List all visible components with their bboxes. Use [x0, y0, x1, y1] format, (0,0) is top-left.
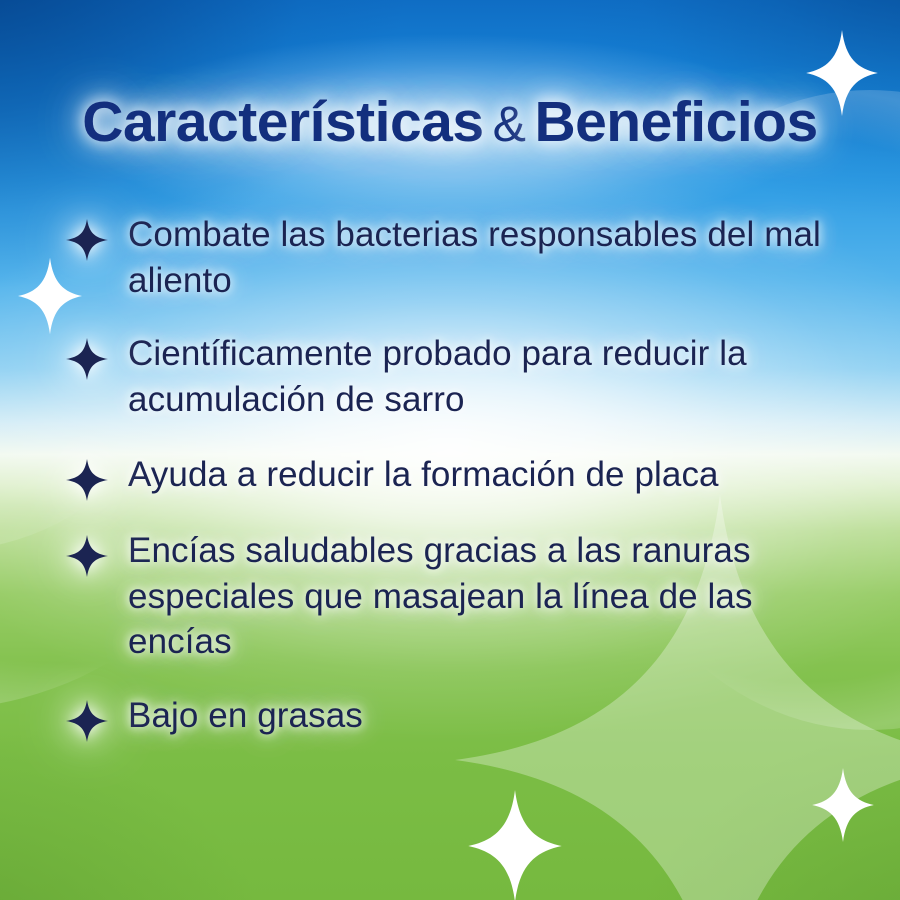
benefit-item: Ayuda a reducir la formación de placa — [66, 452, 866, 502]
benefit-text: Científicamente probado para reducir la … — [128, 331, 866, 422]
benefit-text: Combate las bacterias responsables del m… — [128, 212, 866, 303]
headline-word-beneficios: Beneficios — [534, 90, 817, 154]
benefit-item: Combate las bacterias responsables del m… — [66, 212, 866, 303]
sparkle-star-icon — [66, 699, 108, 743]
benefits-list: Combate las bacterias responsables del m… — [66, 212, 866, 743]
benefit-text: Bajo en grasas — [128, 693, 866, 739]
headline-ampersand: & — [484, 96, 535, 152]
headline-word-caracteristicas: Características — [82, 90, 483, 154]
promo-canvas: Características&Beneficios Combate las b… — [0, 0, 900, 900]
page-title: Características&Beneficios — [0, 94, 900, 151]
sparkle-bottom-middle-icon — [468, 790, 562, 900]
benefit-text: Ayuda a reducir la formación de placa — [128, 452, 866, 498]
benefit-item: Científicamente probado para reducir la … — [66, 331, 866, 422]
sparkle-star-icon — [66, 534, 108, 578]
sparkle-star-icon — [66, 458, 108, 502]
benefit-text: Encías saludables gracias a las ranuras … — [128, 528, 866, 665]
benefit-item: Bajo en grasas — [66, 693, 866, 743]
benefit-item: Encías saludables gracias a las ranuras … — [66, 528, 866, 665]
sparkle-star-icon — [66, 218, 108, 262]
sparkle-star-icon — [66, 337, 108, 381]
sparkle-bottom-right-icon — [812, 768, 874, 842]
